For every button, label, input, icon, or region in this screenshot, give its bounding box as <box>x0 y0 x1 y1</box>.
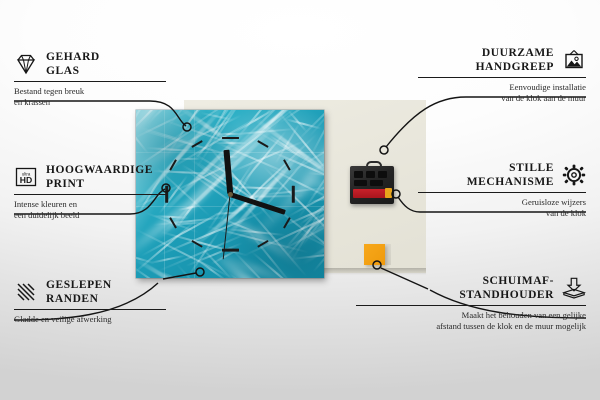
clock-mechanism <box>350 166 394 204</box>
feature-description: Geruisloze wijzers van de klok <box>418 197 586 219</box>
press-pad-icon <box>562 276 586 300</box>
feature-description: Intense kleuren en een duidelijk beeld <box>14 199 166 221</box>
feature-title: SCHUIMAF- STANDHOUDER <box>459 274 554 302</box>
feature-description: Maakt het behouden van een gelijke afsta… <box>356 310 586 332</box>
feature-divider <box>14 194 166 195</box>
feature-title: STILLE MECHANISME <box>467 161 554 189</box>
feature-description: Eenvoudige installatie van de klok aan d… <box>418 82 586 104</box>
foam-spacer-shadow <box>385 244 391 265</box>
feature-description: Bestand tegen breuk en krassen <box>14 86 166 108</box>
feature-description: Gladde en veilige afwerking <box>14 314 166 325</box>
mechanism-body <box>350 166 394 204</box>
feature-gehard-glas: GEHARD GLAS Bestand tegen breuk en krass… <box>14 50 166 108</box>
feature-title: HOOGWAARDIGE PRINT <box>46 163 153 191</box>
battery-terminal <box>385 188 392 198</box>
diamond-icon <box>14 52 38 76</box>
feature-schuimafstandhouder: SCHUIMAF- STANDHOUDER Maakt het behouden… <box>356 274 586 332</box>
feature-title: GEHARD GLAS <box>46 50 100 78</box>
feature-duurzame-handgreep: DUURZAME HANDGREEP Eenvoudige installati… <box>418 46 586 104</box>
feature-title: GESLEPEN RANDEN <box>46 278 112 306</box>
feature-divider <box>418 192 586 193</box>
beveled-edges-icon <box>14 280 38 304</box>
battery-label <box>353 189 387 198</box>
feature-stille-mechanisme: STILLE MECHANISME <box>418 161 586 219</box>
feature-divider <box>14 309 166 310</box>
feature-geslepen-randen: GESLEPEN RANDEN Gladde en veilige afwerk… <box>14 278 166 325</box>
ultra-hd-icon: ultra HD <box>14 165 38 189</box>
foam-spacer <box>364 244 385 265</box>
feature-hoogwaardige-print: ultra HD HOOGWAARDIGE PRINT Intense kleu… <box>14 163 166 221</box>
picture-frame-icon <box>562 48 586 72</box>
feature-divider <box>14 81 166 82</box>
gear-icon <box>562 163 586 187</box>
product-feature-infographic: GEHARD GLAS Bestand tegen breuk en krass… <box>0 0 600 400</box>
feature-divider <box>418 77 586 78</box>
product-photo <box>136 92 426 277</box>
feature-title: DUURZAME HANDGREEP <box>476 46 554 74</box>
feature-divider <box>356 305 586 306</box>
svg-text:HD: HD <box>20 175 32 185</box>
